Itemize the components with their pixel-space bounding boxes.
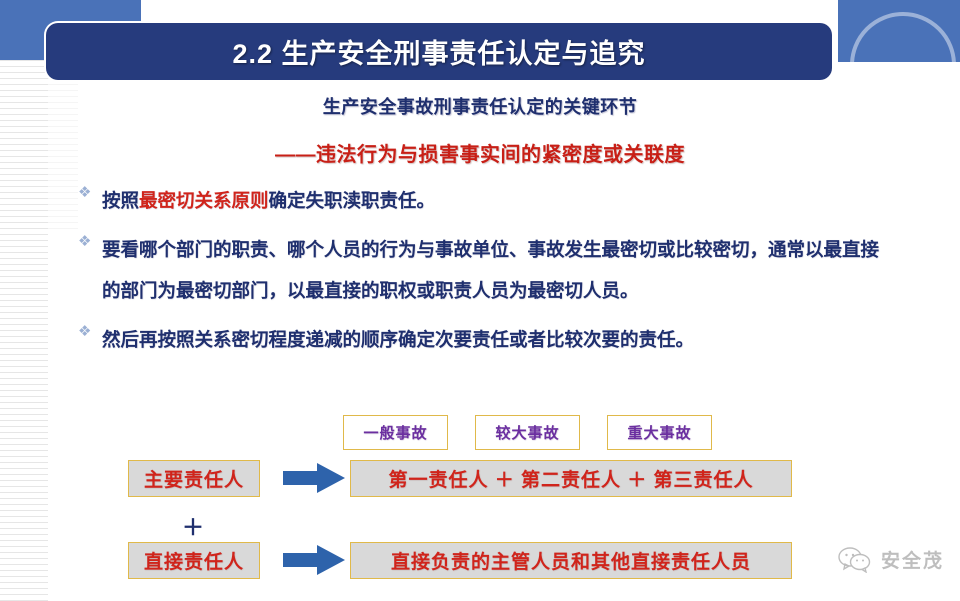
diamond-bullet-icon: ❖ <box>78 180 102 200</box>
bullet-text: 然后再按照关系密切程度递减的顺序确定次要责任或者比较次要的责任。 <box>102 319 888 360</box>
responsibility-diagram: 一般事故 较大事故 重大事故 主要责任人 ＋ 直接责任人 第一责任人 ＋ 第二责… <box>128 415 828 580</box>
plus-connector: ＋ <box>128 510 258 542</box>
diamond-bullet-icon: ❖ <box>78 319 102 339</box>
responsible-persons-list-box: 第一责任人 ＋ 第二责任人 ＋ 第三责任人 <box>350 460 792 497</box>
bullet-segment: 确定失职渎职责任。 <box>269 190 436 211</box>
bullet-list: ❖ 按照最密切关系原则确定失职渎职责任。 ❖ 要看哪个部门的职责、哪个人员的行为… <box>78 180 888 368</box>
bullet-item: ❖ 然后再按照关系密切程度递减的顺序确定次要责任或者比较次要的责任。 <box>78 319 888 360</box>
slide-title-bar: 2.2 生产安全刑事责任认定与追究 <box>46 23 832 80</box>
subtitle-secondary: ——违法行为与损害事实间的紧密度或关联度 <box>0 138 960 167</box>
bullet-item: ❖ 要看哪个部门的职责、哪个人员的行为与事故单位、事故发生最密切或比较密切，通常… <box>78 229 888 311</box>
accident-level-box: 重大事故 <box>607 415 712 450</box>
decor-block-top-right <box>838 0 960 62</box>
direct-persons-description-box: 直接负责的主管人员和其他直接责任人员 <box>350 542 792 579</box>
slide-canvas: 2.2 生产安全刑事责任认定与追究 生产安全事故刑事责任认定的关键环节 ——违法… <box>0 0 960 601</box>
bullet-text: 要看哪个部门的职责、哪个人员的行为与事故单位、事故发生最密切或比较密切，通常以最… <box>102 229 888 311</box>
accident-level-box: 一般事故 <box>343 415 448 450</box>
accident-level-box: 较大事故 <box>475 415 580 450</box>
watermark-text: 安全茂 <box>881 546 944 573</box>
diamond-bullet-icon: ❖ <box>78 229 102 249</box>
wechat-icon <box>838 547 872 573</box>
direct-responsible-person-box: 直接责任人 <box>128 542 260 579</box>
right-arrow-icon <box>283 463 345 493</box>
bullet-segment-highlight: 最密切关系原则 <box>139 190 269 211</box>
bullet-segment: 按照 <box>102 190 139 211</box>
decor-arc-icon <box>850 12 956 62</box>
subtitle-primary: 生产安全事故刑事责任认定的关键环节 <box>0 93 960 119</box>
page-title: 2.2 生产安全刑事责任认定与追究 <box>232 32 645 71</box>
main-responsible-person-box: 主要责任人 <box>128 460 260 497</box>
right-arrow-icon <box>283 545 345 575</box>
bullet-item: ❖ 按照最密切关系原则确定失职渎职责任。 <box>78 180 888 221</box>
watermark: 安全茂 <box>838 546 944 573</box>
bullet-text: 按照最密切关系原则确定失职渎职责任。 <box>102 180 888 221</box>
accident-level-row: 一般事故 较大事故 重大事故 <box>343 415 712 450</box>
